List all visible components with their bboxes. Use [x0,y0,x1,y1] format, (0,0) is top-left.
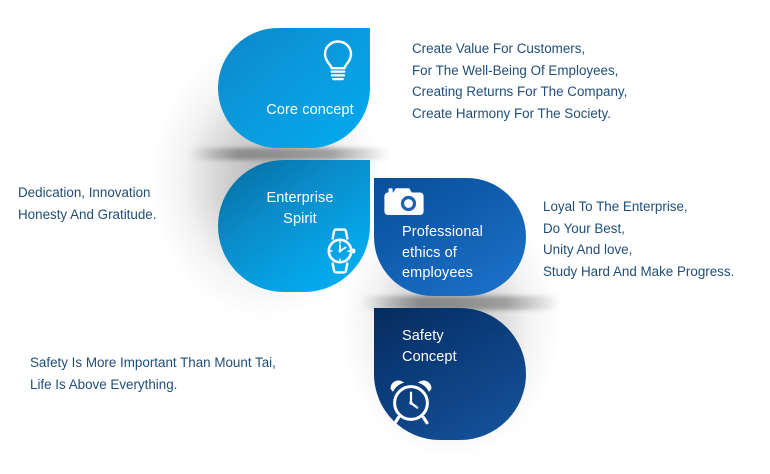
wristwatch-icon [318,226,362,276]
description-enterprise-spirit: Dedication, Innovation Honesty And Grati… [18,182,233,225]
description-safety-concept: Safety Is More Important Than Mount Tai,… [30,352,330,395]
petal-title-safety-concept: Safety Concept [402,326,520,367]
description-core-concept: Create Value For Customers, For The Well… [412,38,712,125]
lightbulb-icon [318,38,358,84]
petal-professional-ethics[interactable]: Professional ethics of employees [374,178,526,296]
alarm-clock-icon [386,376,436,426]
diagram-canvas: Core concept Enterprise Spirit [0,0,770,474]
petal-title-enterprise-spirit: Enterprise Spirit [240,188,360,229]
description-professional-ethics: Loyal To The Enterprise, Do Your Best, U… [543,196,763,283]
petal-title-core-concept: Core concept [250,100,370,121]
petal-safety-concept[interactable]: Safety Concept [374,308,526,440]
petal-enterprise-spirit[interactable]: Enterprise Spirit [218,160,370,292]
petal-core-concept[interactable]: Core concept [218,28,370,148]
petal-title-professional-ethics: Professional ethics of employees [402,222,520,284]
petal-divider-shadow-upper [190,148,390,160]
camera-icon [382,180,428,220]
